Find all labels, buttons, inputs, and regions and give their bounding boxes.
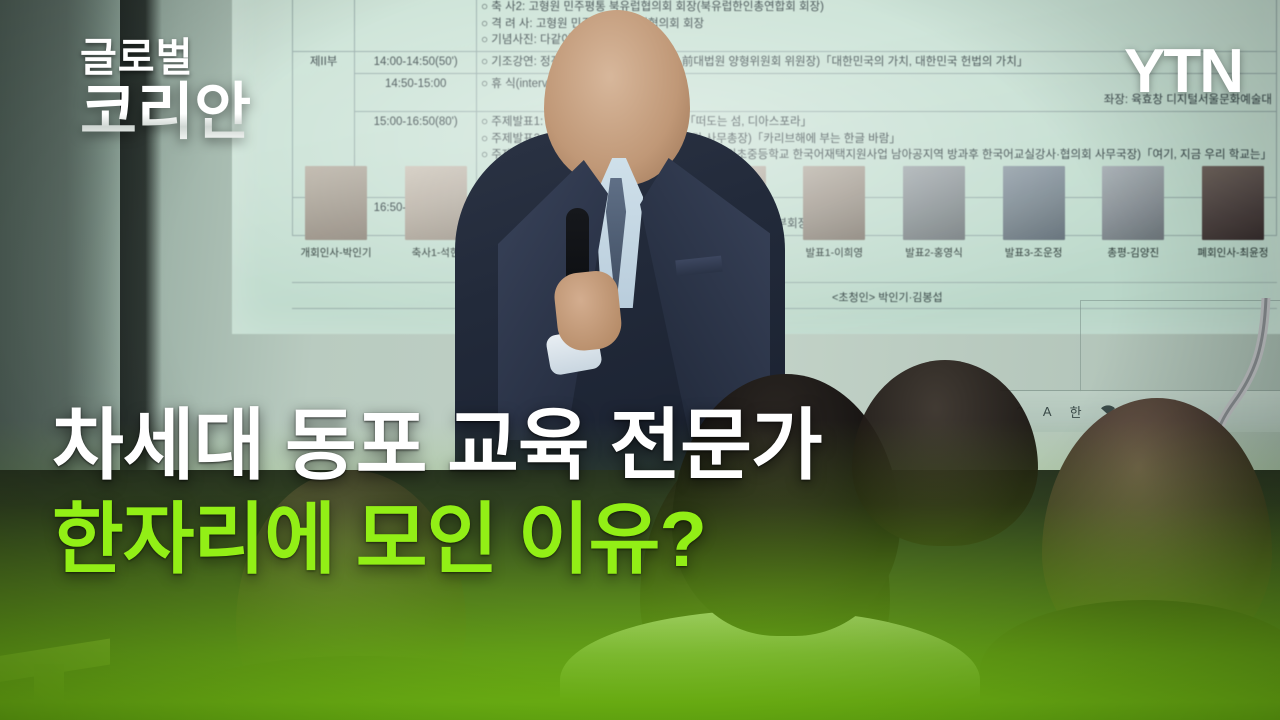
program-logo-line1: 글로벌	[80, 38, 340, 78]
headline-line-1: 차세대 동포 교육 전문가	[52, 406, 1232, 486]
speaker-hand	[552, 269, 624, 353]
audience-shoulders	[150, 656, 570, 720]
headline-block: 차세대 동포 교육 전문가 한자리에 모인 이유?	[52, 406, 1232, 579]
program-logo: 글로벌 코리안	[80, 38, 340, 145]
audience-shoulders	[980, 600, 1280, 720]
program-logo-line2: 코리안	[80, 80, 340, 145]
podium-post	[34, 664, 64, 720]
network-logo: YTN	[1124, 36, 1242, 107]
broadcast-frame: 축 사2: 고형원 민주평통 북유럽협의회 회장(북유럽한인총연합회 회장) 격…	[0, 0, 1280, 720]
headline-line-2: 한자리에 모인 이유?	[52, 500, 1232, 580]
